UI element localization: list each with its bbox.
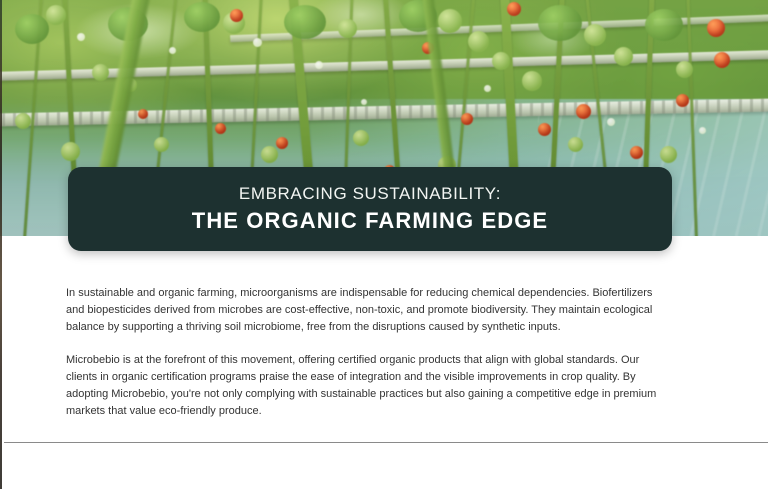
body-paragraph: In sustainable and organic farming, micr… bbox=[66, 285, 667, 336]
page-eyebrow: EMBRACING SUSTAINABILITY: bbox=[239, 183, 501, 206]
footer-divider bbox=[4, 442, 768, 443]
title-card: EMBRACING SUSTAINABILITY: THE ORGANIC FA… bbox=[68, 167, 672, 251]
article-body: In sustainable and organic farming, micr… bbox=[66, 285, 667, 420]
body-paragraph: Microbebio is at the forefront of this m… bbox=[66, 352, 667, 420]
page-title: THE ORGANIC FARMING EDGE bbox=[192, 207, 548, 236]
footer-area bbox=[0, 443, 768, 489]
page-edge-line bbox=[0, 0, 2, 489]
